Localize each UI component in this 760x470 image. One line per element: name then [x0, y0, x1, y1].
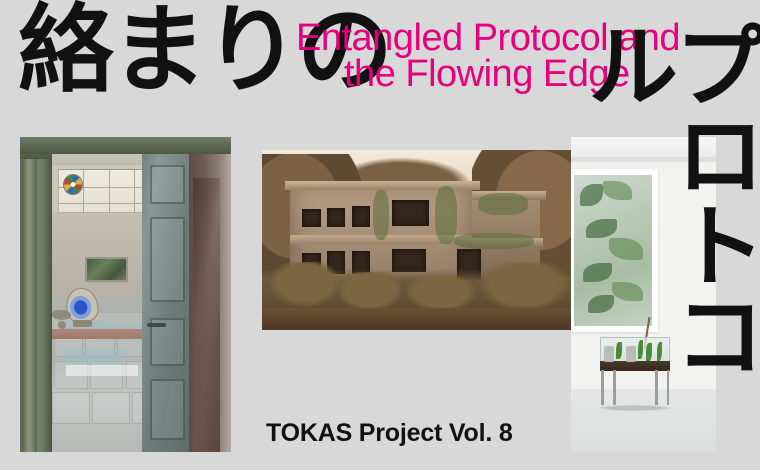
floor-rock: [58, 321, 66, 329]
sculpture-base: [73, 320, 92, 328]
door-lintel: [20, 137, 231, 154]
ruin-shrub: [404, 276, 478, 312]
door-panel: [150, 165, 185, 205]
brick-pillar: [193, 178, 220, 452]
terrarium-stand-leg: [613, 370, 616, 405]
terrarium-pot: [604, 346, 614, 362]
ruin-water: [262, 308, 571, 330]
project-label: TOKAS Project Vol. 8: [266, 419, 513, 448]
terrarium-pot: [626, 346, 636, 362]
floor-rock: [52, 310, 71, 319]
open-door: [142, 146, 195, 452]
floor-wet-patch: [62, 348, 125, 364]
ruin-window: [327, 208, 346, 228]
floor-plank: [50, 329, 147, 339]
ruin-window: [302, 209, 321, 227]
ruin-vine: [373, 190, 388, 240]
ruin-window: [352, 206, 371, 228]
door-pilaster: [22, 159, 37, 452]
door-panel: [150, 217, 185, 303]
floor-tile: [92, 392, 130, 424]
doorway-wall-vent: [85, 257, 127, 282]
ruin-shrub: [268, 262, 342, 309]
page-title-japanese-vertical: プロトコル: [660, 18, 756, 458]
doorway-photograph: [20, 137, 231, 452]
ruin-vine: [454, 233, 534, 249]
door-handle: [147, 323, 166, 327]
terrarium-plant: [616, 342, 622, 359]
ruined-building-photograph: [262, 150, 571, 330]
window-mullion: [109, 169, 110, 213]
floor-light-patch: [66, 365, 138, 376]
window-mullion: [83, 169, 84, 213]
ruin-window: [392, 200, 429, 225]
ruin-shrub: [336, 272, 404, 312]
window-mullion: [134, 169, 135, 213]
terrarium-stand-leg: [601, 370, 604, 405]
ruin-shrub: [478, 262, 571, 312]
ruin-vine: [478, 193, 527, 215]
poster-canvas: 絡まりの Entangled Protocol and the Flowing …: [0, 0, 760, 470]
ruin-vine: [435, 186, 457, 244]
door-panel: [150, 379, 185, 440]
terrarium-stand-leg: [655, 370, 658, 405]
floor-tile: [52, 392, 90, 424]
